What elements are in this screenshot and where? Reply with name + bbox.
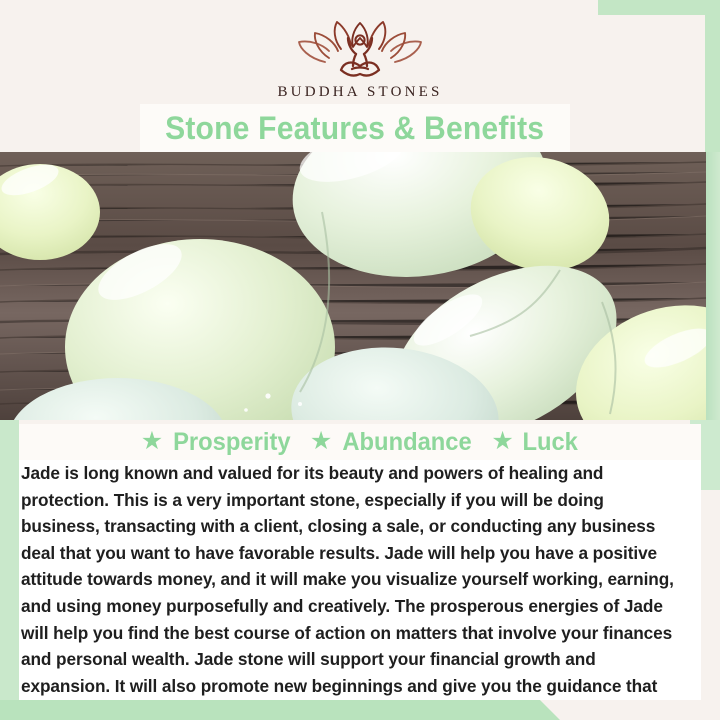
- benefit-label: Prosperity: [173, 428, 290, 457]
- benefit-item-abundance: ★ Abundance: [310, 428, 476, 457]
- decor-bar-bottom: [0, 700, 560, 720]
- star-icon: ★: [310, 429, 332, 454]
- infographic-page: BUDDHA STONES Stone Features & Benefits: [0, 0, 720, 720]
- stone-photo: Jade: [0, 152, 706, 420]
- brand-logo: BUDDHA STONES: [0, 18, 720, 101]
- benefit-item-prosperity: ★ Prosperity: [141, 428, 294, 457]
- stone-photo-illustration: [0, 152, 706, 420]
- decor-bar-right-photo: [705, 152, 720, 420]
- title-banner: Stone Features & Benefits: [140, 104, 570, 152]
- brand-name: BUDDHA STONES: [277, 84, 442, 101]
- page-header: BUDDHA STONES: [0, 0, 720, 112]
- benefit-item-luck: ★ Luck: [491, 428, 579, 457]
- lotus-meditation-icon: [296, 18, 424, 80]
- benefit-label: Luck: [522, 428, 577, 457]
- description-panel: Jade is long known and valued for its be…: [19, 460, 701, 700]
- star-icon: ★: [491, 429, 513, 454]
- description-text: Jade is long known and valued for its be…: [21, 460, 682, 720]
- star-icon: ★: [141, 429, 163, 454]
- page-title: Stone Features & Benefits: [165, 110, 544, 147]
- benefit-label: Abundance: [343, 428, 472, 457]
- benefits-row: ★ Prosperity ★ Abundance ★ Luck: [19, 424, 701, 460]
- decor-bar-left-body: [0, 420, 19, 702]
